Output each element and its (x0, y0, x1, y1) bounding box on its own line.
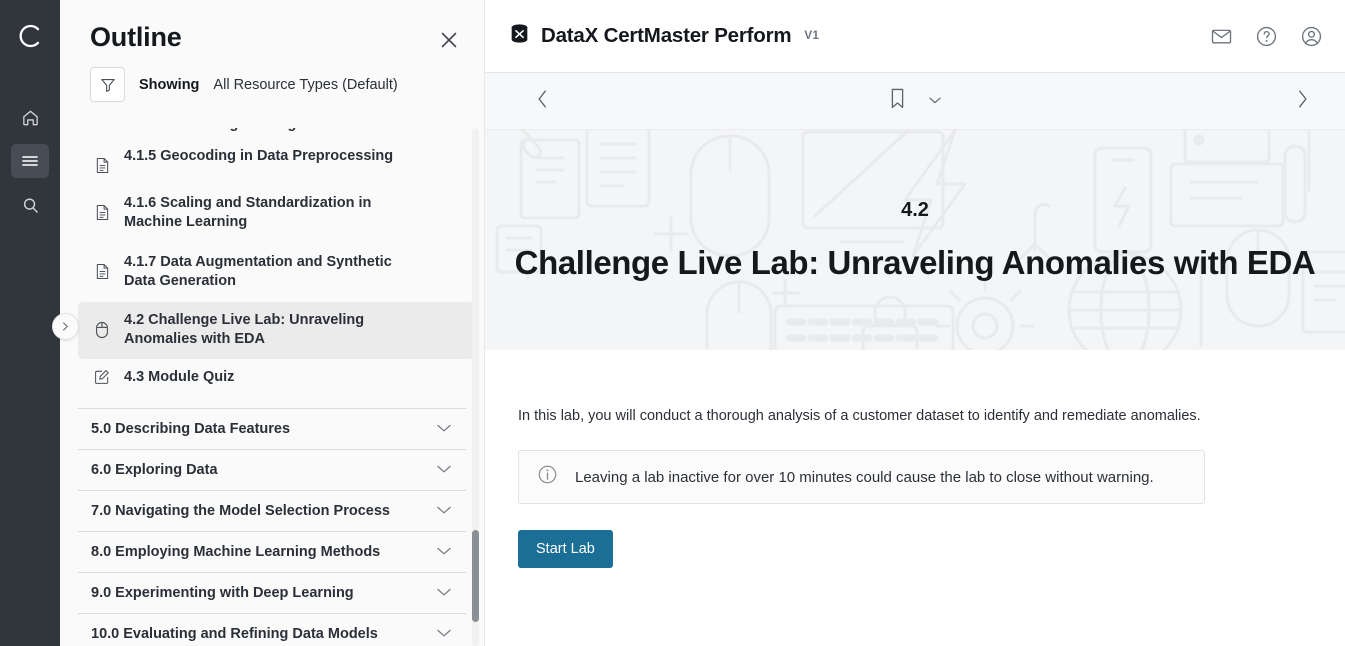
section-label: 5.0 Describing Data Features (91, 421, 290, 437)
expand-panel-button[interactable] (52, 313, 79, 340)
lab-content: In this lab, you will conduct a thorough… (485, 350, 1345, 646)
list-item[interactable]: 4.3 Module Quiz (78, 361, 474, 394)
rail-item-outline[interactable] (11, 144, 49, 178)
list-item-label: 4.1.7 Data Augmentation and Synthetic Da… (124, 253, 399, 292)
filter-funnel-icon (99, 76, 117, 94)
list-item-label: 4.1.5 Geocoding in Data Preprocessing (124, 147, 393, 166)
c-logo[interactable] (8, 14, 52, 58)
close-icon (436, 27, 462, 53)
outline-panel: Outline Showing All Resource Types (Defa… (60, 0, 485, 646)
left-nav-rail (0, 0, 60, 646)
datax-cube-icon (509, 23, 530, 49)
product-name: DataX CertMaster Perform (541, 24, 791, 48)
close-outline-button[interactable] (436, 27, 462, 53)
bookmark-dropdown-chevron-down-icon[interactable] (928, 92, 942, 110)
list-item-label: 4.1.6 Scaling and Standardization in Mac… (124, 194, 399, 233)
product-version: V1 (804, 30, 819, 42)
section-row[interactable]: 8.0 Employing Machine Learning Methods (78, 531, 466, 572)
outline-scrollbar-thumb[interactable] (472, 530, 479, 622)
showing-label: Showing (139, 77, 199, 93)
page-title: Outline (90, 22, 182, 53)
list-item-label: 4.3 Module Quiz (124, 368, 234, 387)
hamburger-menu-icon (20, 153, 40, 169)
list-item[interactable]: 4.1.6 Scaling and Standardization in Mac… (78, 185, 474, 242)
start-lab-button[interactable]: Start Lab (518, 530, 613, 568)
section-label: 9.0 Experimenting with Deep Learning (91, 585, 354, 601)
app-header: DataX CertMaster Perform V1 (485, 0, 1345, 73)
brand: DataX CertMaster Perform V1 (509, 23, 819, 49)
list-item-label: 4.2 Challenge Live Lab: Unraveling Anoma… (124, 311, 399, 350)
list-item-selected[interactable]: 4.2 Challenge Live Lab: Unraveling Anoma… (78, 302, 474, 359)
document-icon (92, 194, 112, 221)
section-label: 8.0 Employing Machine Learning Methods (91, 544, 380, 560)
chevron-right-icon (60, 321, 71, 332)
filter-button[interactable] (90, 67, 125, 102)
cut-off-topic-label: 4.1.4 Handling Missing Data (78, 128, 474, 132)
chevron-down-icon[interactable] (436, 420, 452, 438)
filter-row: Showing All Resource Types (Default) (60, 53, 484, 102)
inactivity-notice-text: Leaving a lab inactive for over 10 minut… (575, 469, 1154, 486)
list-item[interactable]: 4.1.7 Data Augmentation and Synthetic Da… (78, 244, 474, 301)
section-row[interactable]: 9.0 Experimenting with Deep Learning (78, 572, 466, 613)
document-icon (92, 253, 112, 280)
main-area: DataX CertMaster Perform V1 (485, 0, 1345, 646)
mouse-lab-icon (92, 311, 112, 339)
lab-description: In this lab, you will conduct a thorough… (518, 408, 1345, 424)
document-icon (92, 147, 112, 174)
chevron-down-icon[interactable] (436, 625, 452, 643)
showing-value[interactable]: All Resource Types (Default) (213, 77, 397, 93)
mail-icon[interactable] (1210, 25, 1233, 48)
section-row[interactable]: 7.0 Navigating the Model Selection Proce… (78, 490, 466, 531)
inactivity-notice: Leaving a lab inactive for over 10 minut… (518, 450, 1205, 504)
next-page-button[interactable] (1295, 88, 1310, 115)
header-actions (1210, 25, 1323, 48)
bookmark-control (889, 87, 942, 115)
previous-page-button[interactable] (535, 88, 550, 115)
list-item[interactable]: 4.1.5 Geocoding in Data Preprocessing (78, 138, 474, 183)
chevron-down-icon[interactable] (436, 502, 452, 520)
outline-scrollbar[interactable] (472, 128, 479, 646)
app-root: Outline Showing All Resource Types (Defa… (0, 0, 1345, 646)
chevron-left-icon (535, 88, 550, 110)
account-circle-icon[interactable] (1300, 25, 1323, 48)
module-number: 4.2 (901, 199, 929, 222)
module-title: Challenge Live Lab: Unraveling Anomalies… (515, 244, 1316, 282)
section-label: 7.0 Navigating the Model Selection Proce… (91, 503, 390, 519)
info-circle-icon (537, 464, 558, 490)
bookmark-icon[interactable] (889, 87, 906, 115)
outline-list: 4.1.4 Handling Missing Data 4.1.5 Geocod… (60, 128, 484, 646)
cut-off-topic: 4.1.4 Handling Missing Data (78, 128, 474, 138)
outline-header: Outline (60, 0, 484, 53)
chevron-right-icon (1295, 88, 1310, 110)
chevron-down-icon[interactable] (436, 543, 452, 561)
page-navbar (485, 73, 1345, 130)
chevron-down-icon[interactable] (436, 584, 452, 602)
search-icon (21, 196, 40, 215)
pencil-quiz-icon (92, 368, 112, 385)
hero-banner: 4.2 Challenge Live Lab: Unraveling Anoma… (485, 130, 1345, 350)
section-label: 10.0 Evaluating and Refining Data Models (91, 626, 378, 642)
section-row[interactable]: 5.0 Describing Data Features (78, 408, 466, 449)
section-label: 6.0 Exploring Data (91, 462, 218, 478)
rail-item-home[interactable] (11, 100, 49, 134)
section-row[interactable]: 10.0 Evaluating and Refining Data Models (78, 613, 466, 646)
rail-item-search[interactable] (11, 188, 49, 222)
section-list: 5.0 Describing Data Features 6.0 Explori… (78, 408, 474, 646)
chevron-down-icon[interactable] (436, 461, 452, 479)
home-icon (21, 108, 40, 127)
help-circle-icon[interactable] (1255, 25, 1278, 48)
tech-watermark-pattern (485, 130, 1345, 350)
section-row[interactable]: 6.0 Exploring Data (78, 449, 466, 490)
